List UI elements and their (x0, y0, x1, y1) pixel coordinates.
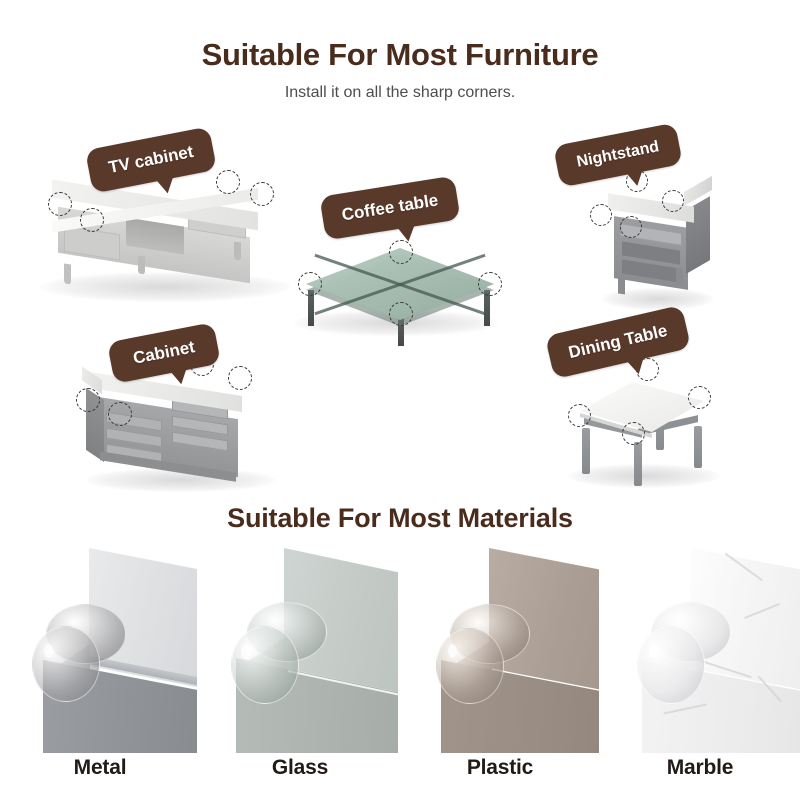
infographic-page: Suitable For Most Furniture Install it o… (0, 0, 800, 800)
badge-label: Dining Table (567, 321, 670, 363)
corner-guard-glass (231, 602, 325, 702)
badge-tail (169, 367, 190, 386)
material-label-plastic: Plastic (400, 756, 600, 796)
corner-marker (228, 366, 252, 390)
furniture-item-nightstand: Nightstand (592, 160, 732, 310)
corner-guard-metal (32, 604, 124, 700)
corner-marker (478, 272, 502, 296)
corner-marker (389, 302, 413, 326)
tv-cabinet-leg (64, 263, 71, 284)
tv-cabinet-leg (138, 255, 145, 274)
dining-table-leg (694, 426, 702, 468)
furniture-item-coffee-table: Coffee table (288, 192, 510, 332)
dining-table-leg (634, 442, 642, 486)
materials-title: Suitable For Most Materials (0, 503, 800, 534)
tv-cabinet-leg (234, 241, 241, 260)
corner-marker (662, 190, 684, 212)
material-label-metal: Metal (0, 756, 200, 796)
corner-marker (298, 272, 322, 296)
nightstand-leg (618, 277, 625, 294)
material-panel-metal (0, 548, 197, 753)
corner-guard-marble (637, 602, 729, 702)
nightstand-leg (676, 267, 683, 284)
guard-front-lobe (32, 626, 100, 702)
furniture-heading-block: Suitable For Most Furniture Install it o… (0, 38, 800, 102)
badge-tail (397, 224, 417, 243)
badge-label: Cabinet (131, 337, 196, 369)
furniture-shadow (40, 272, 290, 302)
guard-highlight (649, 644, 658, 658)
dining-table-leg (582, 428, 590, 474)
badge-tail (625, 168, 646, 187)
corner-marker (590, 204, 612, 226)
material-label-marble: Marble (600, 756, 800, 796)
furniture-item-dining-table: Dining Table (558, 338, 738, 488)
badge-label: TV cabinet (107, 142, 195, 178)
page-subtitle: Install it on all the sharp corners. (0, 84, 800, 102)
badge-label: Nightstand (575, 138, 660, 172)
corner-guard-plastic (436, 604, 528, 702)
material-labels-row: Metal Glass Plastic Marble (0, 756, 800, 796)
badge-coffee-table: Coffee table (319, 176, 460, 241)
corner-marker (620, 216, 642, 238)
corner-marker (216, 170, 240, 194)
guard-front-lobe (637, 626, 705, 704)
badge-label: Coffee table (340, 191, 439, 226)
badge-dining-table: Dining Table (545, 305, 691, 379)
corner-marker (250, 182, 274, 206)
furniture-item-cabinet: Cabinet (80, 350, 290, 490)
material-panel-glass (201, 548, 398, 753)
corner-marker (48, 192, 72, 216)
page-title: Suitable For Most Furniture (0, 38, 800, 72)
guard-highlight (44, 644, 53, 658)
guard-highlight (241, 644, 251, 659)
corner-marker (389, 240, 413, 264)
corner-marker (108, 402, 132, 426)
corner-marker (76, 388, 100, 412)
furniture-illustration-area: TV cabinet Coffe (0, 120, 800, 500)
materials-strip (0, 548, 800, 753)
guard-highlight (448, 644, 457, 658)
guard-front-lobe (436, 628, 504, 704)
material-panel-plastic (402, 548, 599, 753)
corner-marker (80, 208, 104, 232)
material-panel-marble (603, 548, 800, 753)
corner-marker (568, 404, 591, 427)
badge-tail (156, 176, 177, 195)
corner-marker (688, 386, 711, 409)
materials-heading-block: Suitable For Most Materials (0, 503, 800, 534)
badge-tv-cabinet: TV cabinet (85, 126, 217, 193)
badge-nightstand: Nightstand (553, 123, 683, 188)
guard-front-lobe (231, 626, 299, 704)
furniture-item-tv-cabinet: TV cabinet (38, 160, 298, 300)
corner-marker (622, 422, 645, 445)
material-label-glass: Glass (200, 756, 400, 796)
